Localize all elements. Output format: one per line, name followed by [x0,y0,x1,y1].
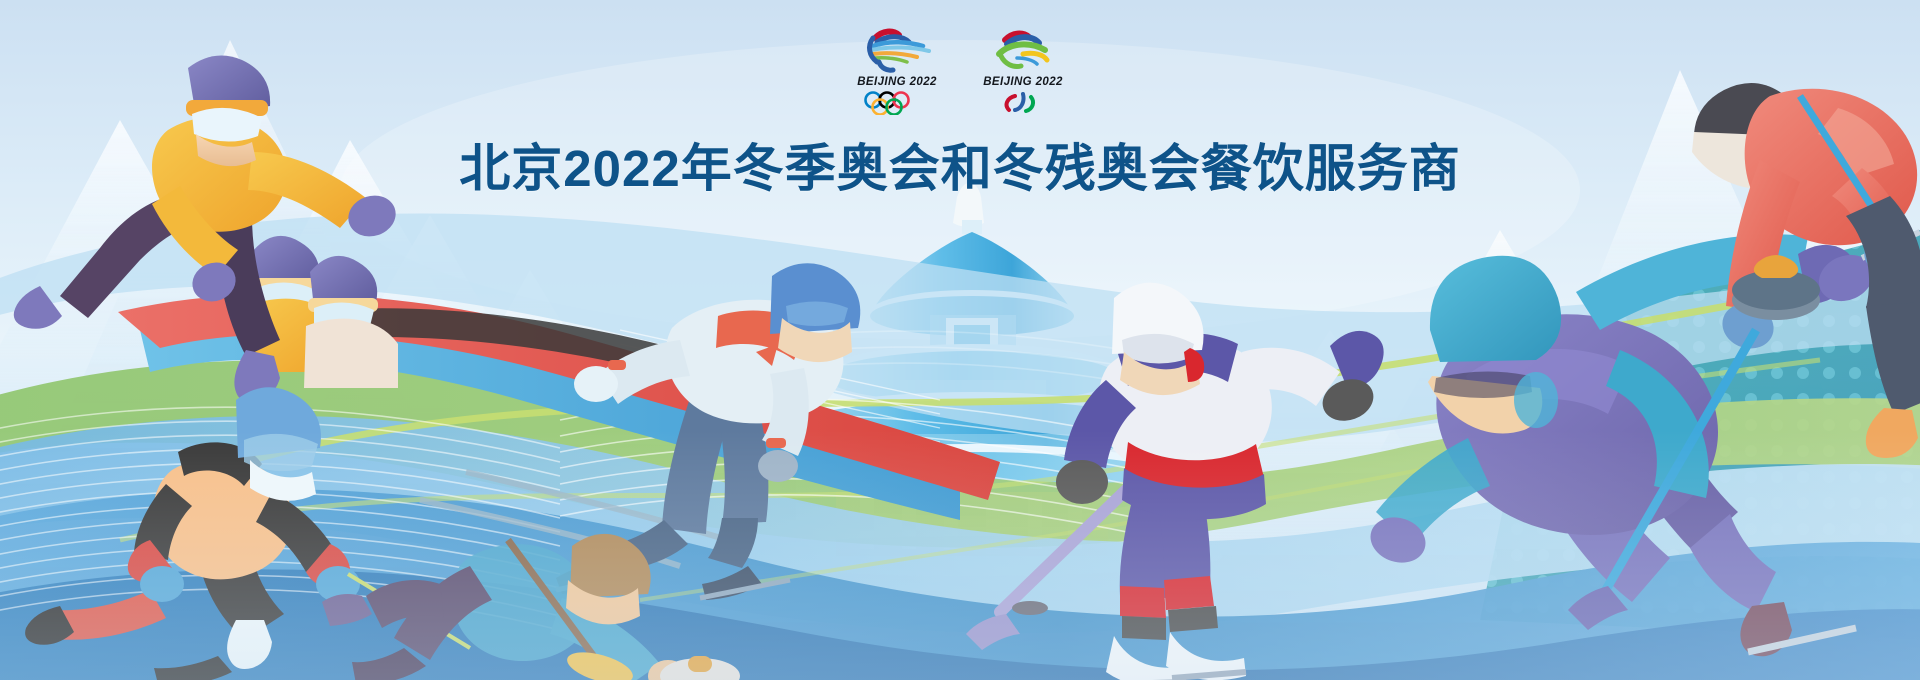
foreground-haze [0,0,1920,680]
beijing-2022-catering-banner: BEIJING 2022 [0,0,1920,680]
